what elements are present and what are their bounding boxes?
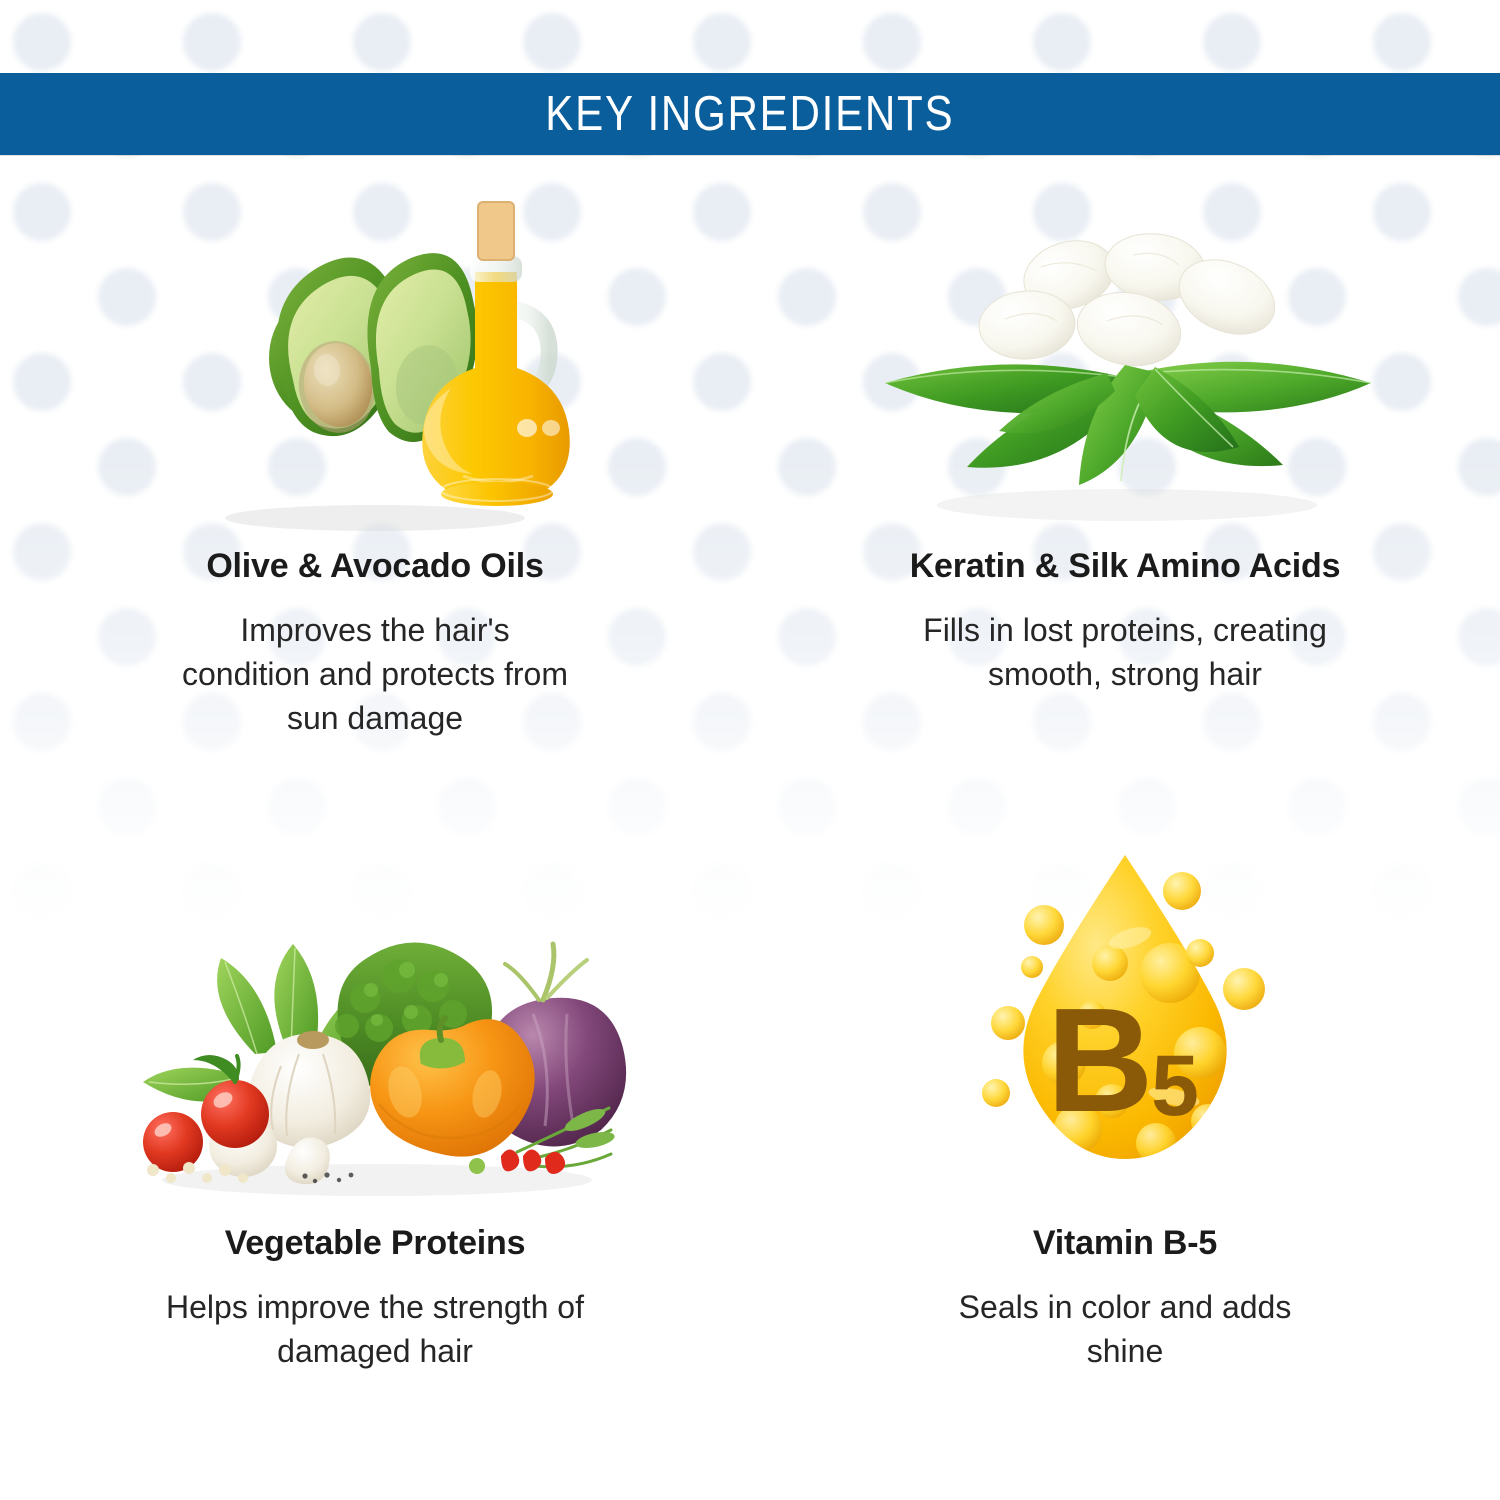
card-title: Olive & Avocado Oils <box>206 547 543 586</box>
ingredient-card-keratin-silk-amino-acids: Keratin & Silk Amino Acids Fills in lost… <box>750 155 1500 828</box>
golden-droplet-b5-image: B 5 <box>750 828 1500 1218</box>
card-description: Helps improve the strength of damaged ha… <box>135 1285 615 1373</box>
avocado-and-oil-bottle-image <box>0 155 750 535</box>
card-description: Improves the hair's condition and protec… <box>175 608 575 740</box>
header-banner: KEY INGREDIENTS <box>0 73 1500 155</box>
page-title: KEY INGREDIENTS <box>545 90 954 139</box>
card-title: Vitamin B-5 <box>1033 1224 1217 1263</box>
droplet-letter-b: B <box>1047 978 1154 1143</box>
ingredient-card-olive-avocado-oils: Olive & Avocado Oils Improves the hair's… <box>0 155 750 828</box>
ingredient-card-vegetable-proteins: Vegetable Proteins Helps improve the str… <box>0 828 750 1500</box>
card-description: Seals in color and adds shine <box>935 1285 1315 1373</box>
ingredients-grid: Olive & Avocado Oils Improves the hair's… <box>0 155 1500 1500</box>
ingredient-card-vitamin-b5: B 5 Vitamin B-5 Seals in color and adds … <box>750 828 1500 1500</box>
droplet-subscript-5: 5 <box>1151 1038 1199 1134</box>
card-title: Vegetable Proteins <box>225 1224 526 1263</box>
silk-cocoons-on-leaves-image <box>750 155 1500 535</box>
assorted-vegetables-image <box>0 828 750 1218</box>
card-description: Fills in lost proteins, creating smooth,… <box>865 608 1385 696</box>
card-title: Keratin & Silk Amino Acids <box>910 547 1341 586</box>
